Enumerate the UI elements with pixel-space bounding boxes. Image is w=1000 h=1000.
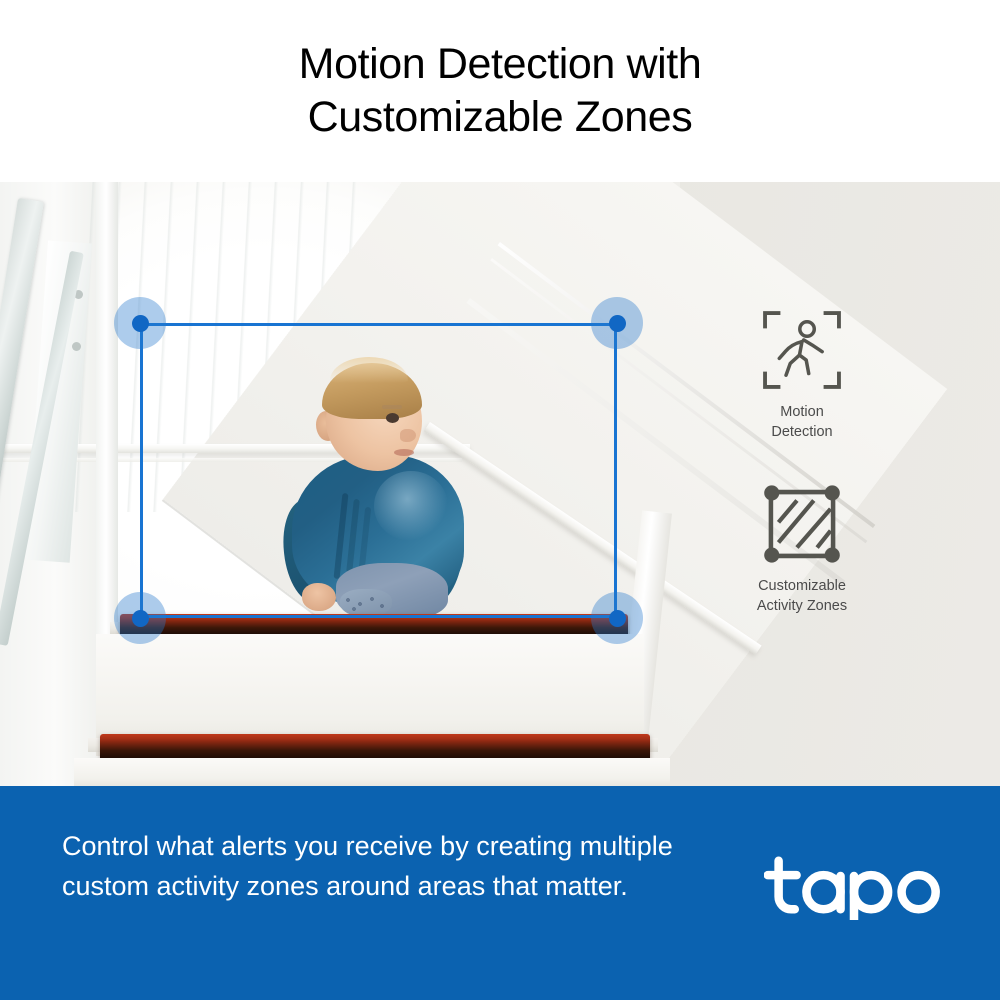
feature-motion-detection-label: Motion Detection xyxy=(712,402,892,442)
zone-handle-top-left[interactable] xyxy=(114,297,166,349)
banner-description: Control what alerts you receive by creat… xyxy=(62,826,682,906)
page-title: Motion Detection with Customizable Zones xyxy=(190,38,810,144)
feature-customizable-zones: Customizable Activity Zones xyxy=(712,482,892,616)
newel-hole-lower xyxy=(72,342,81,351)
feature-motion-detection: Motion Detection xyxy=(712,308,892,442)
stair-nosing-lower xyxy=(100,734,650,760)
zone-handle-top-right[interactable] xyxy=(591,297,643,349)
bottom-banner: Control what alerts you receive by creat… xyxy=(0,786,1000,1000)
zone-handle-bottom-right[interactable] xyxy=(591,592,643,644)
stair-riser-lower xyxy=(74,758,670,786)
customizable-activity-zones-icon xyxy=(760,482,844,566)
feature-customizable-zones-label: Customizable Activity Zones xyxy=(712,576,892,616)
activity-zone-rectangle[interactable] xyxy=(140,323,617,618)
hero-photo: Motion Detection xyxy=(0,182,1000,786)
tapo-logo xyxy=(764,850,944,920)
zone-handle-bottom-left[interactable] xyxy=(114,592,166,644)
header: Motion Detection with Customizable Zones xyxy=(0,0,1000,182)
marketing-feature-card: Motion Detection with Customizable Zones xyxy=(0,0,1000,1000)
motion-detection-icon xyxy=(760,308,844,392)
